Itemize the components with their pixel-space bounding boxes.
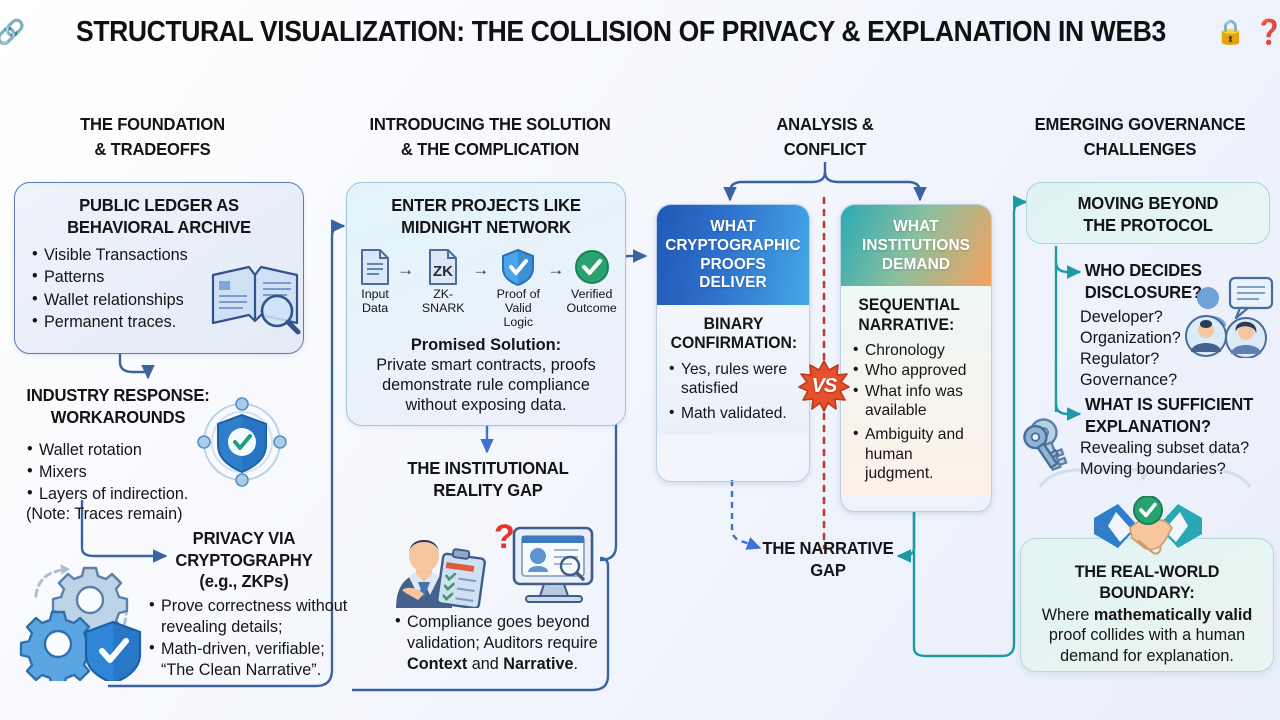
infographic-canvas: 🔗 STRUCTURAL VISUALIZATION: THE COLLISIO… [0,0,1280,720]
flow-arrow-icon: → [397,260,414,280]
list-item: Yes, rules were satisfied [668,360,799,399]
column-header-governance: EMERGING GOVERNANCE CHALLENGES [1007,112,1273,163]
card-subtitle: BINARY CONFIRMATION: [671,315,797,354]
promised-solution-label: Promised Solution: [347,336,625,355]
zk-flow-label: Proof of Valid Logic [491,288,545,330]
panel-public-ledger: PUBLIC LEDGER AS BEHAVIORAL ARCHIVE Visi… [14,182,304,354]
zk-flow-step-proof: Proof of Valid Logic [491,248,545,330]
column-header-analysis: ANALYSIS & CONFLICT [706,112,944,163]
shield-check-icon [501,248,535,286]
handshake-check-icon [1090,496,1206,572]
text-line: Organization? [1080,328,1181,349]
card-cryptographic-proofs-header: WHAT CRYPTOGRAPHIC PROOFS DELIVER [657,205,809,305]
svg-text:ZK: ZK [433,263,453,280]
card-cryptographic-proofs-body: BINARY CONFIRMATION: Yes, rules were sat… [657,305,809,435]
list-item: Math validated. [668,404,799,423]
panel-moving-beyond-protocol: MOVING BEYOND THE PROTOCOL [1026,182,1270,244]
document-icon [359,248,391,286]
question-icon: ❓ [1254,21,1280,45]
page-title-text: STRUCTURAL VISUALIZATION: THE COLLISION … [76,16,1166,49]
bullet-text-narrative: Narrative [503,655,573,673]
panel-real-world-boundary-text: Where mathematically valid proof collide… [1021,605,1273,666]
sufficient-explanation-lines: Revealing subset data? Moving boundaries… [1080,438,1249,480]
people-chat-icon [1182,276,1274,358]
list-item: Wallet relationships [31,290,203,311]
card-subtitle: SEQUENTIAL NARRATIVE: [855,296,979,335]
zk-flow-label: Verified Outcome [566,288,617,316]
boundary-text-part: Where [1042,606,1094,624]
bullet-text-part: . [573,655,578,673]
list-item: Chronology [852,341,981,360]
zk-flow: Input Data → ZK ZK-SNARK → Proof of Vali… [347,244,625,330]
list-item: Math-driven, verifiable; “The Clean Narr… [148,639,352,681]
zk-flow-step-verified: Verified Outcome [566,248,617,316]
flow-arrow-icon: → [547,260,564,280]
column-header-solution: INTRODUCING THE SOLUTION & THE COMPLICAT… [338,112,642,163]
list-item: Prove correctness without revealing deta… [148,596,352,638]
svg-text:?: ? [494,518,515,556]
link-icon: 🔗 [0,21,26,45]
card-cryptographic-proofs: WHAT CRYPTOGRAPHIC PROOFS DELIVER BINARY… [656,204,810,482]
page-title: 🔗 STRUCTURAL VISUALIZATION: THE COLLISIO… [0,16,1280,49]
panel-public-ledger-title: PUBLIC LEDGER AS BEHAVIORAL ARCHIVE [22,183,296,245]
boundary-text-bold: mathematically valid [1094,606,1252,624]
zk-document-icon: ZK [427,248,459,286]
label-narrative-gap: THE NARRATIVE GAP [762,538,895,581]
promised-solution-text: Private smart contracts, proofs demonstr… [347,355,625,415]
gears-shield-icon [18,556,148,681]
bullet-text-part: Compliance goes beyond validation; Audit… [407,613,598,652]
lock-icon: 🔒 [1216,21,1246,45]
zk-flow-step-snark: ZK ZK-SNARK [416,248,470,316]
text-line: Regulator? [1080,349,1181,370]
list-item: Patterns [31,267,203,288]
heading-privacy-cryptography: PRIVACY VIA CRYPTOGRAPHY (e.g., ZKPs) [153,528,335,593]
list-item: Visible Transactions [31,245,203,266]
panel-moving-beyond-title: MOVING BEYOND THE PROTOCOL [1033,183,1263,246]
bullet-text-context: Context [407,655,467,673]
list-item: What info was available [852,382,981,421]
text-line: Developer? [1080,307,1181,328]
list-item: Permanent traces. [31,312,203,333]
card-bullets: Chronology Who approved What info was av… [852,341,981,483]
flow-arrow-icon: → [472,260,489,280]
zk-flow-label: ZK-SNARK [416,288,470,316]
industry-response-note: (Note: Traces remain) [26,504,183,525]
privacy-cryptography-bullets: Prove correctness without revealing deta… [148,596,352,682]
zk-flow-label: Input Data [355,288,395,316]
who-decides-lines: Developer? Organization? Regulator? Gove… [1080,307,1181,391]
green-check-circle-icon [575,248,609,286]
card-institutions-demand-body: SEQUENTIAL NARRATIVE: Chronology Who app… [841,286,991,495]
reality-gap-bullets: Compliance goes beyond validation; Audit… [394,612,622,676]
boundary-text-part: proof collides with a human demand for e… [1049,626,1245,664]
text-line: Revealing subset data? [1080,438,1249,459]
open-book-magnifier-icon [205,255,305,337]
card-institutions-demand-header: WHAT INSTITUTIONS DEMAND [841,205,991,286]
text-line: Moving boundaries? [1080,459,1249,480]
keys-icon [1022,414,1084,474]
list-item: Ambiguity and human judgment. [852,425,981,483]
text-line: Governance? [1080,370,1181,391]
card-bullets: Yes, rules were satisfied Math validated… [668,360,799,423]
heading-industry-response: INDUSTRY RESPONSE: WORKAROUNDS [14,385,223,428]
shield-check-orbit-icon [196,395,288,490]
heading-institutional-reality-gap: THE INSTITUTIONAL REALITY GAP [382,458,595,501]
panel-midnight-title: ENTER PROJECTS LIKE MIDNIGHT NETWORK [354,183,618,244]
vs-badge-text: VS [812,375,837,398]
panel-midnight-network: ENTER PROJECTS LIKE MIDNIGHT NETWORK Inp… [346,182,626,426]
card-institutions-demand: WHAT INSTITUTIONS DEMAND SEQUENTIAL NARR… [840,204,992,512]
list-item: Compliance goes beyond validation; Audit… [394,612,622,675]
column-header-foundation: THE FOUNDATION & TRADEOFFS [36,112,269,163]
vs-badge: VS [798,360,850,412]
bullet-text-part: and [467,655,503,673]
list-item: Who approved [852,361,981,380]
auditor-clipboard-monitor-icon: ? [378,512,602,608]
zk-flow-step-input: Input Data [355,248,395,316]
heading-what-is-sufficient-explanation: WHAT IS SUFFICIENT EXPLANATION? [1085,394,1275,437]
